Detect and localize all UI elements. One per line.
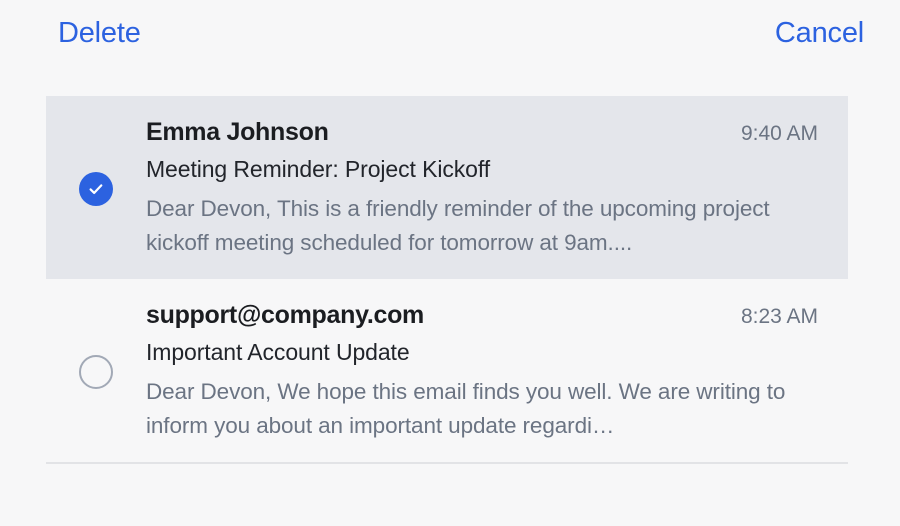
message-content: Emma Johnson 9:40 AM Meeting Reminder: P… xyxy=(146,118,818,259)
email-list: Emma Johnson 9:40 AM Meeting Reminder: P… xyxy=(0,96,900,464)
selection-column xyxy=(46,118,146,259)
email-sender: Emma Johnson xyxy=(146,118,329,147)
email-timestamp: 9:40 AM xyxy=(741,122,818,146)
message-header-line: Emma Johnson 9:40 AM xyxy=(146,118,818,147)
delete-button[interactable]: Delete xyxy=(58,18,141,50)
email-subject: Important Account Update xyxy=(146,339,818,367)
selection-column xyxy=(46,301,146,442)
email-timestamp: 8:23 AM xyxy=(741,305,818,329)
action-bar: Delete Cancel xyxy=(0,0,900,96)
email-list-item[interactable]: support@company.com 8:23 AM Important Ac… xyxy=(46,279,848,462)
list-divider xyxy=(46,462,848,464)
email-preview: Dear Devon, This is a friendly reminder … xyxy=(146,192,818,259)
email-list-item[interactable]: Emma Johnson 9:40 AM Meeting Reminder: P… xyxy=(46,96,848,279)
checkmark-circle-icon[interactable] xyxy=(79,172,113,206)
message-content: support@company.com 8:23 AM Important Ac… xyxy=(146,301,818,442)
email-sender: support@company.com xyxy=(146,301,424,330)
cancel-button[interactable]: Cancel xyxy=(775,18,864,50)
email-preview: Dear Devon, We hope this email finds you… xyxy=(146,375,818,442)
empty-circle-icon[interactable] xyxy=(79,355,113,389)
email-subject: Meeting Reminder: Project Kickoff xyxy=(146,156,818,184)
message-header-line: support@company.com 8:23 AM xyxy=(146,301,818,330)
